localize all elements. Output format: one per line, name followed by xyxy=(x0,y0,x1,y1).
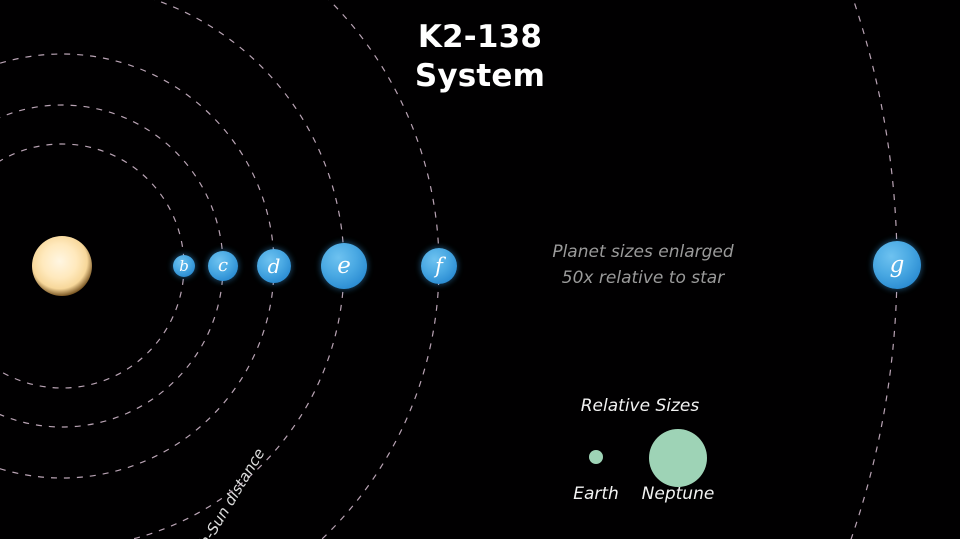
page-title: K2-138 System xyxy=(330,18,630,96)
legend-label-neptune: Neptune xyxy=(642,484,715,504)
planet-label-e: e xyxy=(337,255,351,278)
planet-b[interactable]: b xyxy=(173,255,195,277)
planet-d[interactable]: d xyxy=(257,249,291,283)
planet-label-f: f xyxy=(435,256,443,277)
planet-size-note: Planet sizes enlarged 50x relative to st… xyxy=(533,240,753,291)
legend-circle-earth xyxy=(589,450,603,464)
orbit-ring-b xyxy=(0,144,184,388)
legend-label-earth: Earth xyxy=(573,484,619,504)
planet-f[interactable]: f xyxy=(421,248,457,284)
host-star xyxy=(32,236,92,296)
planet-label-g: g xyxy=(890,254,905,277)
planet-e[interactable]: e xyxy=(321,243,367,289)
k2-138-system-diagram: bcdefg K2-138 System Planet sizes enlarg… xyxy=(0,0,960,539)
planet-label-c: c xyxy=(218,257,228,275)
planet-c[interactable]: c xyxy=(208,251,238,281)
planet-label-b: b xyxy=(179,259,189,274)
legend-title: Relative Sizes xyxy=(540,396,740,416)
planet-g[interactable]: g xyxy=(873,241,921,289)
legend-circle-neptune xyxy=(649,429,707,487)
planet-label-d: d xyxy=(268,256,281,276)
